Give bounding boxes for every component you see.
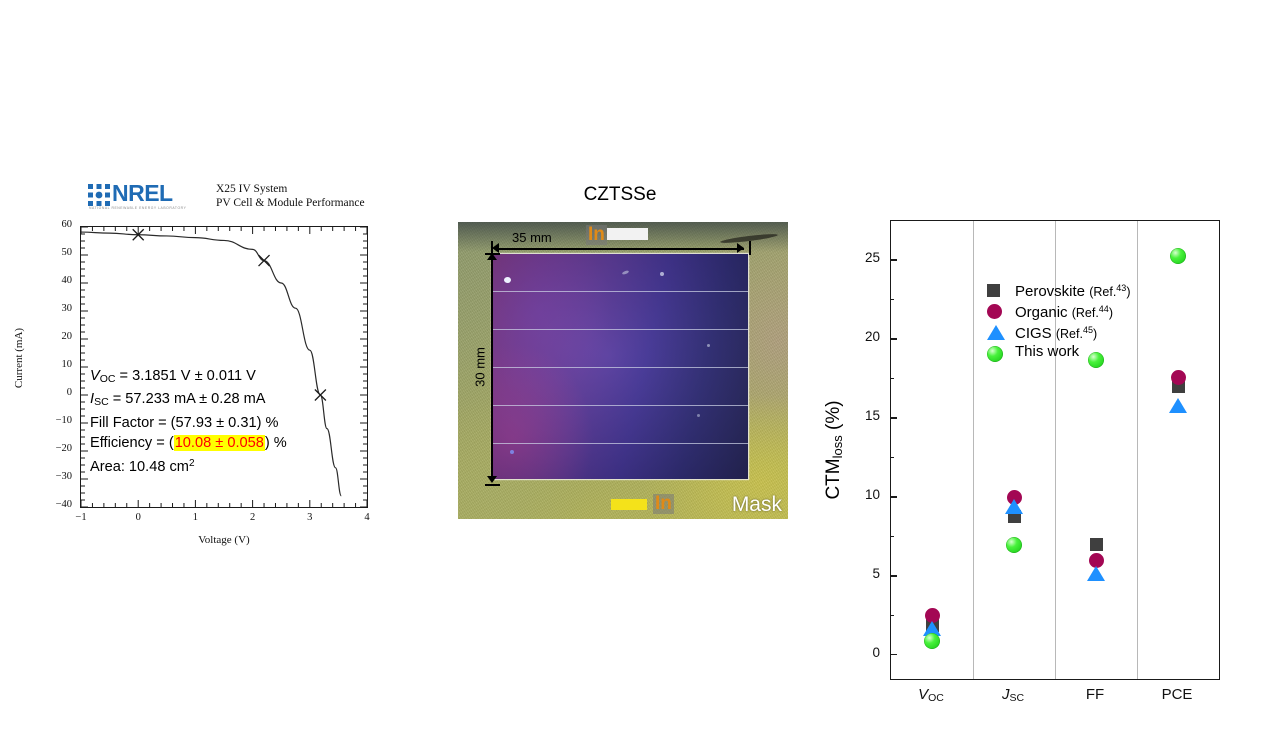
iv-y-tick-label: 60 xyxy=(38,219,72,230)
area-superscript: 2 xyxy=(189,458,195,469)
ctm-x-tick-label: PCE xyxy=(1137,686,1217,703)
area-annotation: Area: 10.48 cm2 xyxy=(90,454,374,477)
ctm-y-axis-sub: loss xyxy=(830,435,845,458)
ctm-y-tick-label: 20 xyxy=(850,329,880,344)
in-tag-bottom: In xyxy=(653,494,674,514)
scribe-line xyxy=(492,291,748,292)
efficiency-annotation: Efficiency = (10.08 ± 0.058) % xyxy=(90,433,374,453)
legend-item[interactable]: This work xyxy=(985,342,1195,363)
voc-value: = 3.1851 V ± 0.011 V xyxy=(115,368,255,384)
ctm-y-tick-label: 25 xyxy=(850,250,880,265)
iv-x-tick-label: 2 xyxy=(241,512,265,523)
iv-curve-panel: NREL NATIONAL RENEWABLE ENERGY LABORATOR… xyxy=(0,170,400,570)
width-dimension-line xyxy=(496,248,744,250)
ctm-y-axis-unit: (%) xyxy=(823,400,844,435)
data-point xyxy=(1006,537,1022,553)
ctm-y-minor-tick xyxy=(890,457,894,458)
iv-y-axis-title: Current (mA) xyxy=(13,328,25,388)
in-tag-top: In xyxy=(586,225,607,245)
iv-y-tick-label: 10 xyxy=(38,359,72,370)
legend-label: Organic (Ref.44) xyxy=(1015,300,1113,323)
legend-marker xyxy=(987,346,1003,362)
ctm-y-tick-mark xyxy=(890,259,897,260)
data-point xyxy=(1087,566,1105,581)
ctm-y-tick-mark xyxy=(890,575,897,576)
scribe-line xyxy=(492,405,748,406)
ctm-y-tick-mark xyxy=(890,654,897,655)
legend-item[interactable]: Organic (Ref.44) xyxy=(985,300,1195,321)
efficiency-value-highlight: 10.08 ± 0.058 xyxy=(174,435,265,451)
defect-speck xyxy=(510,450,514,454)
cztsse-module-active-area xyxy=(492,254,748,479)
area-text: Area: 10.48 cm xyxy=(90,459,189,475)
efficiency-suffix: ) % xyxy=(265,435,287,451)
ctm-y-tick-label: 10 xyxy=(850,487,880,502)
iv-x-tick-label: 0 xyxy=(126,512,150,523)
legend-label: Perovskite (Ref.43) xyxy=(1015,279,1130,302)
nrel-header: NREL NATIONAL RENEWABLE ENERGY LABORATOR… xyxy=(88,182,388,222)
iv-y-tick-label: −40 xyxy=(38,499,72,510)
defect-speck xyxy=(660,272,664,276)
legend-item[interactable]: Perovskite (Ref.43) xyxy=(985,279,1195,300)
height-tick-top xyxy=(485,253,500,255)
ctm-x-tick-label: FF xyxy=(1055,686,1135,703)
width-arrow-left xyxy=(492,243,499,253)
ctm-y-tick-label: 5 xyxy=(850,566,880,581)
ctm-y-tick-mark xyxy=(890,496,897,497)
ctm-y-tick-label: 15 xyxy=(850,408,880,423)
width-tick-right xyxy=(749,241,751,255)
height-label: 30 mm xyxy=(473,347,488,387)
data-point xyxy=(924,633,940,649)
isc-subscript: SC xyxy=(94,396,109,408)
legend-marker xyxy=(987,284,1000,297)
ctm-y-tick-mark xyxy=(890,417,897,418)
height-tick-bottom xyxy=(485,484,500,486)
legend-marker xyxy=(987,304,1002,319)
data-point xyxy=(1090,538,1103,551)
ctm-y-axis-main: CTM xyxy=(823,458,844,499)
iv-annotation-block: VOC = 3.1851 V ± 0.011 V ISC = 57.233 mA… xyxy=(90,366,374,477)
scribe-line xyxy=(492,367,748,368)
iv-y-tick-label: 40 xyxy=(38,275,72,286)
ctm-y-minor-tick xyxy=(890,378,894,379)
data-point xyxy=(1005,499,1023,514)
legend-label: This work xyxy=(1015,342,1079,361)
ctm-y-tick-label: 0 xyxy=(850,645,880,660)
efficiency-prefix: Efficiency = ( xyxy=(90,435,174,451)
width-label: 35 mm xyxy=(512,230,552,245)
iv-y-tick-label: 30 xyxy=(38,303,72,314)
iv-y-tick-label: 50 xyxy=(38,247,72,258)
defect-speck xyxy=(697,414,700,417)
defect-speck xyxy=(707,344,710,347)
nrel-system-line1: X25 IV System xyxy=(216,183,365,197)
nrel-system-line2: PV Cell & Module Performance xyxy=(216,197,365,211)
legend-label: CIGS (Ref.45) xyxy=(1015,321,1097,344)
iv-x-axis-title: Voltage (V) xyxy=(198,534,249,546)
photo-title: CZTSSe xyxy=(584,184,657,206)
nrel-tagline: NATIONAL RENEWABLE ENERGY LABORATORY xyxy=(89,206,186,210)
ctm-legend: Perovskite (Ref.43)Organic (Ref.44)CIGS … xyxy=(985,279,1195,363)
iv-y-tick-label: −10 xyxy=(38,415,72,426)
data-point xyxy=(1170,248,1186,264)
in-contact-strip-top xyxy=(607,228,648,240)
ctm-y-minor-tick xyxy=(890,536,894,537)
height-arrow-bottom xyxy=(487,476,497,483)
mask-tag: Mask xyxy=(732,493,782,517)
ctm-y-minor-tick xyxy=(890,615,894,616)
voc-annotation: VOC = 3.1851 V ± 0.011 V xyxy=(90,366,374,389)
isc-value: = 57.233 mA ± 0.28 mA xyxy=(109,391,266,407)
ctm-y-axis-title: CTMloss (%) xyxy=(823,400,845,499)
ctm-x-tick-label: VOC xyxy=(891,686,971,704)
iv-y-tick-label: −30 xyxy=(38,471,72,482)
height-dimension-line xyxy=(491,258,493,480)
iv-x-tick-label: 1 xyxy=(183,512,207,523)
isc-annotation: ISC = 57.233 mA ± 0.28 mA xyxy=(90,389,374,412)
legend-marker xyxy=(987,325,1005,340)
voc-symbol: V xyxy=(90,368,100,384)
scribe-line xyxy=(492,329,748,330)
data-point xyxy=(1171,370,1186,385)
category-separator xyxy=(973,221,974,679)
nrel-system-title: X25 IV System PV Cell & Module Performan… xyxy=(216,183,365,210)
nrel-wordmark: NREL xyxy=(112,180,173,206)
fill-factor-annotation: Fill Factor = (57.93 ± 0.31) % xyxy=(90,413,374,433)
iv-y-tick-label: 0 xyxy=(38,387,72,398)
scribe-line xyxy=(492,443,748,444)
in-contact-strip-bottom xyxy=(611,499,647,510)
ctm-x-tick-label: JSC xyxy=(973,686,1053,704)
data-point xyxy=(1169,398,1187,413)
legend-item[interactable]: CIGS (Ref.45) xyxy=(985,321,1195,342)
width-arrow-right xyxy=(737,243,744,253)
iv-x-tick-label: 4 xyxy=(355,512,379,523)
module-photo-panel: CZTSSe 35 mm 30 xyxy=(440,170,800,550)
ctm-y-tick-mark xyxy=(890,338,897,339)
iv-x-tick-label: −1 xyxy=(69,512,93,523)
iv-x-tick-label: 3 xyxy=(298,512,322,523)
voc-subscript: OC xyxy=(100,373,116,385)
ctm-plot-frame: Perovskite (Ref.43)Organic (Ref.44)CIGS … xyxy=(890,220,1220,680)
nrel-logo: NREL NATIONAL RENEWABLE ENERGY LABORATOR… xyxy=(88,182,206,214)
ctm-loss-panel: Perovskite (Ref.43)Organic (Ref.44)CIGS … xyxy=(810,170,1280,570)
iv-y-tick-label: −20 xyxy=(38,443,72,454)
iv-y-tick-label: 20 xyxy=(38,331,72,342)
ctm-y-minor-tick xyxy=(890,299,894,300)
defect-speck xyxy=(504,277,511,283)
module-photograph: 35 mm 30 mm In In Mask xyxy=(458,222,788,519)
nrel-logo-mark xyxy=(88,184,110,206)
